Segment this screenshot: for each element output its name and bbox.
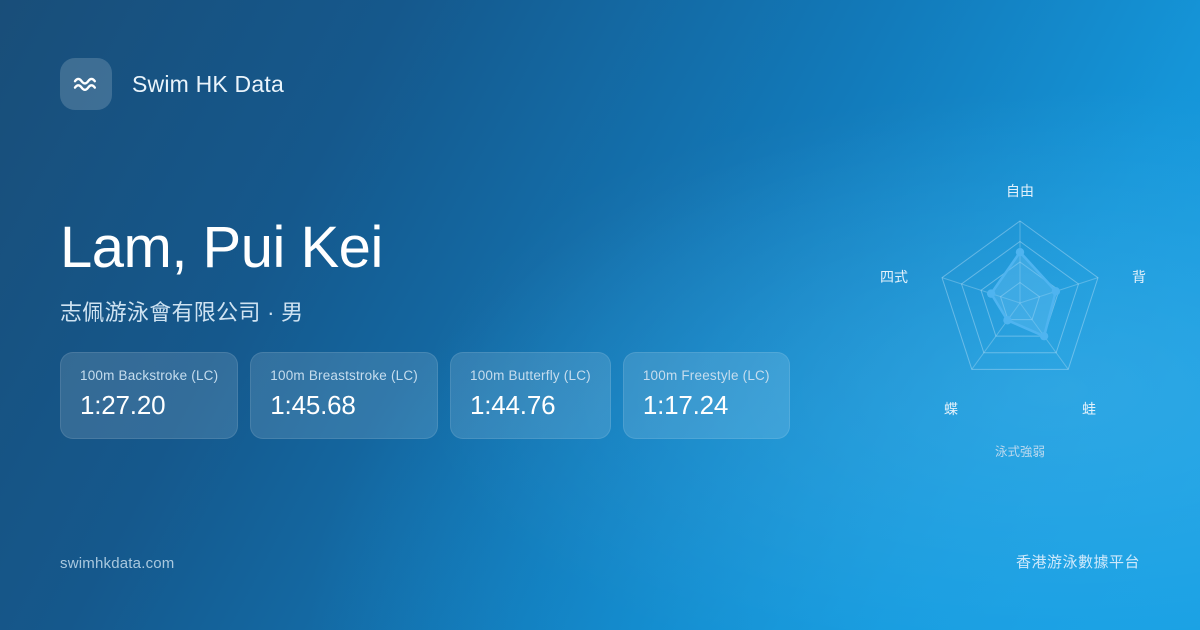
stat-card[interactable]: 100m Backstroke (LC) 1:27.20 [60, 352, 238, 439]
radar-data-point [1003, 316, 1011, 324]
stat-card[interactable]: 100m Freestyle (LC) 1:17.24 [623, 352, 790, 439]
wave-approx-icon [60, 58, 112, 110]
radar-data-point [1052, 287, 1060, 295]
footer-tagline: 香港游泳數據平台 [1016, 551, 1140, 572]
radar-axis-label: 背 [1132, 269, 1146, 285]
stat-value: 1:44.76 [470, 390, 591, 421]
radar-axis-label: 蛙 [1082, 401, 1096, 417]
radar-data-point [1016, 248, 1024, 256]
brand-name: Swim HK Data [132, 71, 284, 98]
radar-axis-label: 四式 [880, 269, 908, 285]
radar-axis-label: 自由 [1006, 183, 1034, 199]
brand-header[interactable]: Swim HK Data [60, 58, 284, 110]
stat-label: 100m Butterfly (LC) [470, 368, 591, 383]
stat-card[interactable]: 100m Butterfly (LC) 1:44.76 [450, 352, 611, 439]
stat-card-list: 100m Backstroke (LC) 1:27.20 100m Breast… [60, 352, 790, 439]
radar-data-point [1040, 332, 1048, 340]
hero-block: Lam, Pui Kei 志佩游泳會有限公司 · 男 [60, 218, 383, 327]
stat-value: 1:17.24 [643, 390, 770, 421]
stat-label: 100m Backstroke (LC) [80, 368, 218, 383]
radar-data-point [987, 289, 995, 297]
stat-card[interactable]: 100m Breaststroke (LC) 1:45.68 [250, 352, 438, 439]
footer-site-url[interactable]: swimhkdata.com [60, 555, 175, 572]
stat-value: 1:27.20 [80, 390, 218, 421]
radar-caption: 泳式強弱 [995, 445, 1045, 459]
stat-label: 100m Freestyle (LC) [643, 368, 770, 383]
radar-data-area [991, 252, 1056, 336]
athlete-meta: 志佩游泳會有限公司 · 男 [60, 295, 383, 327]
stat-label: 100m Breaststroke (LC) [270, 368, 418, 383]
radar-axis-label: 蝶 [944, 401, 958, 417]
stat-value: 1:45.68 [270, 390, 418, 421]
page-title: Lam, Pui Kei [60, 218, 383, 279]
stroke-radar-chart: 自由背蛙蝶四式 泳式強弱 [860, 160, 1180, 480]
